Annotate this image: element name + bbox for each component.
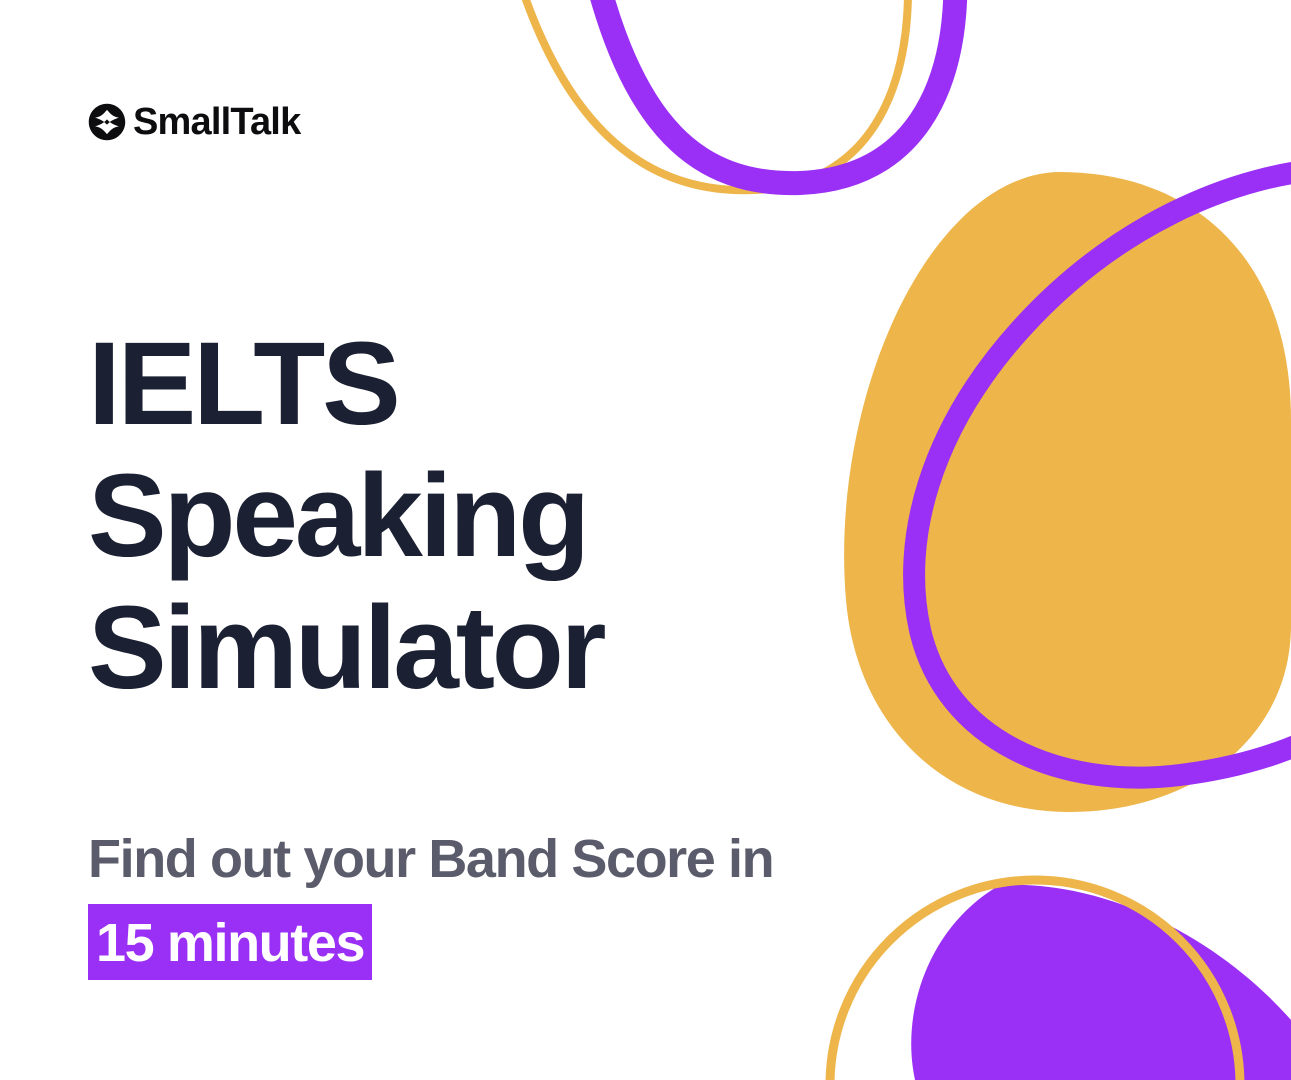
subtitle-highlight-wrap: 15 minutes — [88, 904, 948, 980]
subtitle-lead-text: Find out your Band Score in — [88, 832, 948, 886]
top-purple-outline-arc-icon — [590, 0, 955, 183]
right-purple-outline-blob-icon — [914, 168, 1291, 778]
hero-subtitle: Find out your Band Score in 15 minutes — [88, 832, 948, 980]
page-title: IELTS Speaking Simulator — [88, 318, 848, 714]
top-orange-outline-arc-icon — [513, 0, 908, 190]
smalltalk-diamond-logo-icon — [88, 103, 126, 141]
brand-logo[interactable]: SmallTalk — [88, 99, 300, 145]
right-orange-blob-fill-icon — [844, 172, 1291, 812]
poster-canvas: SmallTalk IELTS Speaking Simulator Find … — [0, 0, 1291, 1080]
bottom-purple-blob-fill-icon — [911, 885, 1291, 1080]
brand-name-label: SmallTalk — [133, 103, 300, 141]
subtitle-highlight-badge: 15 minutes — [88, 904, 372, 980]
